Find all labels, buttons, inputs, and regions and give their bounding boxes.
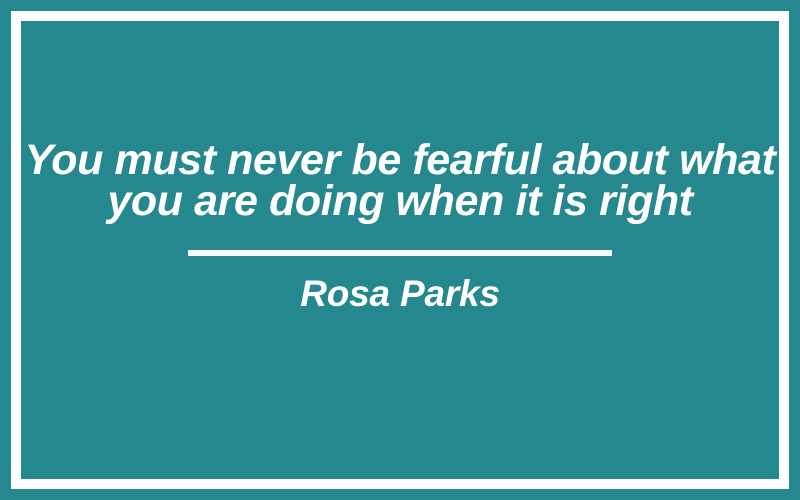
divider-container — [21, 250, 779, 256]
quote-divider-rule — [188, 250, 612, 256]
quote-author-name: Rosa Parks — [21, 272, 779, 316]
quote-text-block: You must never be fearful about what you… — [21, 140, 779, 222]
quote-text: You must never be fearful about what you… — [21, 140, 779, 222]
quote-card: You must never be fearful about what you… — [0, 0, 800, 500]
